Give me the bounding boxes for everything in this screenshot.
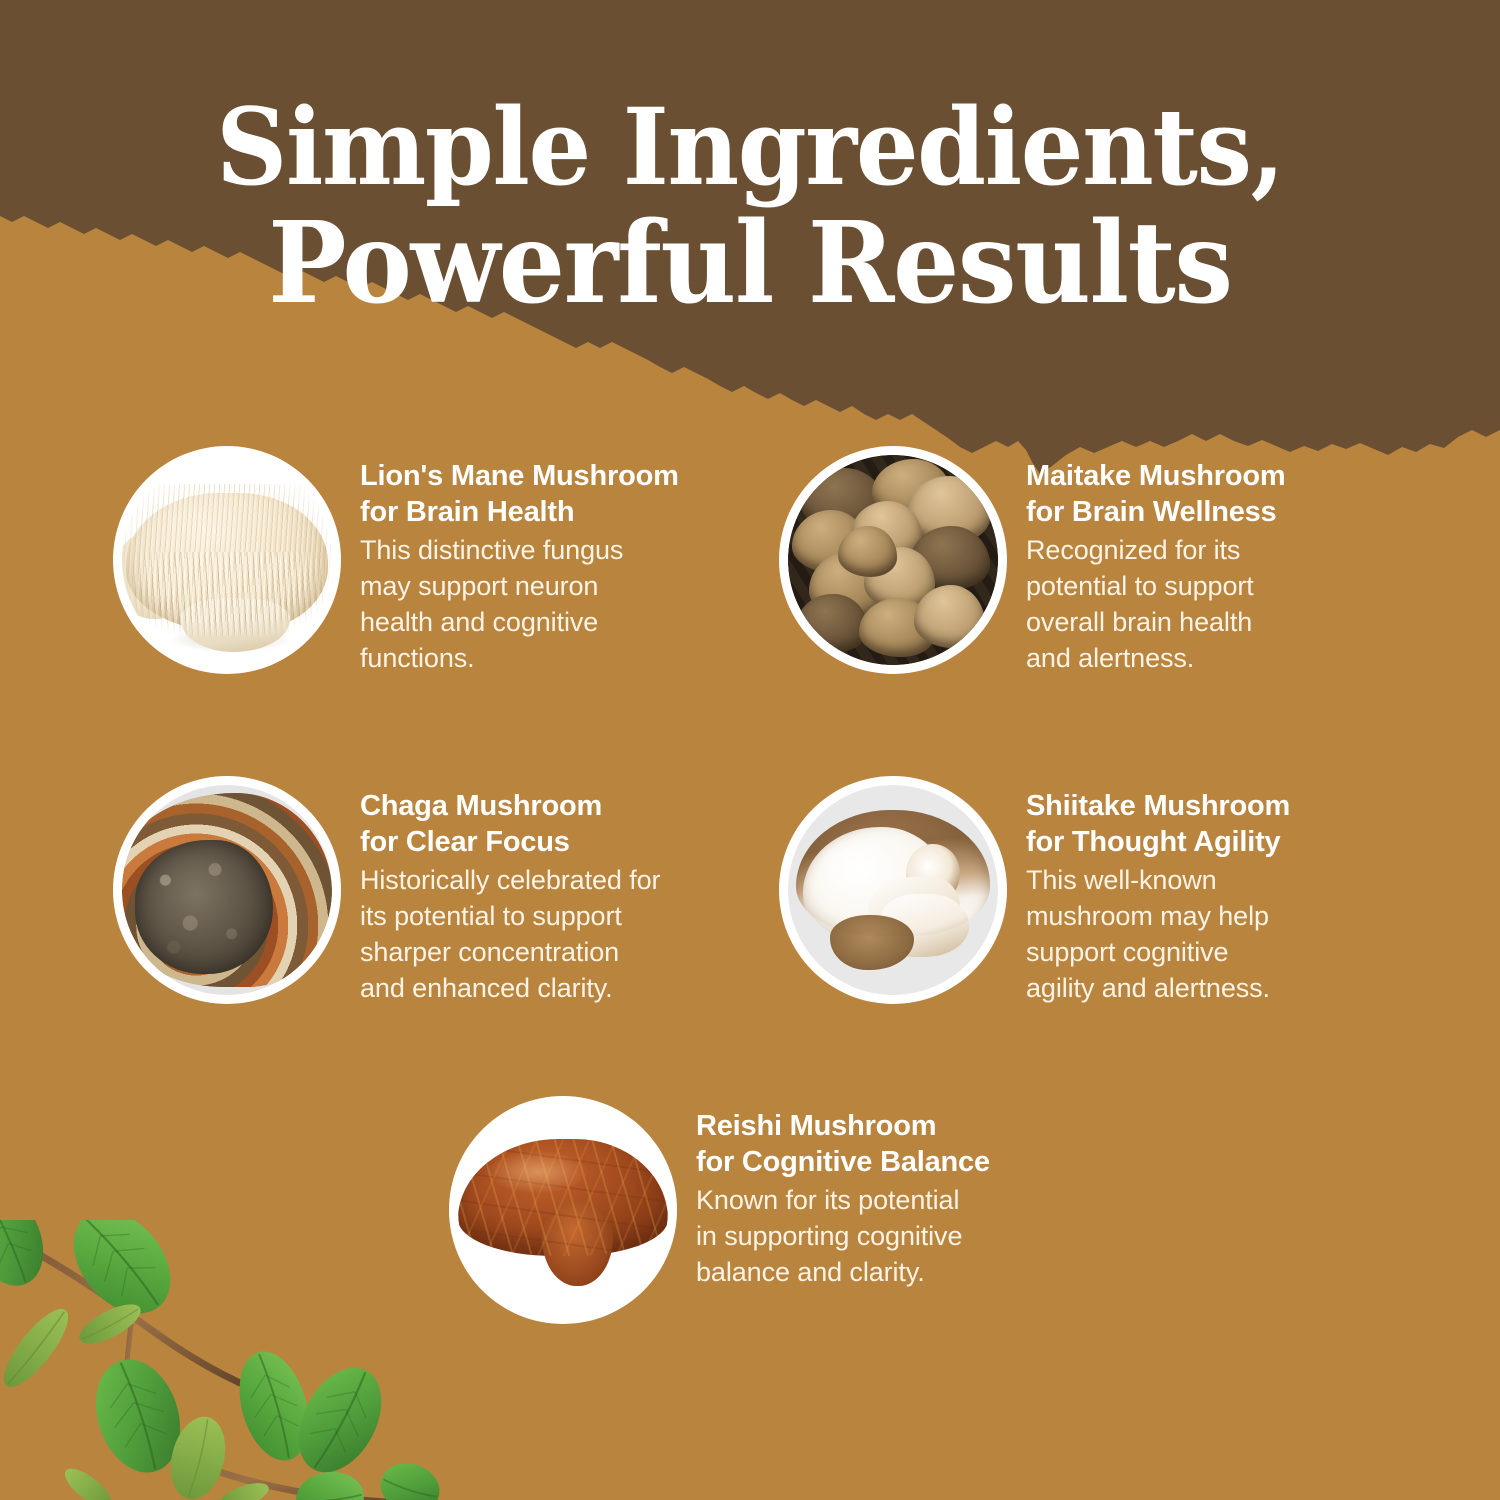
ingredient-card-maitake: Maitake Mushroom for Brain Wellness Reco… xyxy=(788,455,1388,677)
lions-mane-mushroom-photo xyxy=(122,455,332,665)
card-title: Reishi Mushroom for Cognitive Balance xyxy=(696,1109,1098,1181)
chaga-mushroom-photo xyxy=(122,785,332,995)
card-title: Maitake Mushroom for Brain Wellness xyxy=(1026,459,1388,531)
reishi-mushroom-photo xyxy=(458,1105,668,1315)
card-description: Known for its potential in supporting co… xyxy=(696,1183,1098,1291)
card-description: This well-known mushroom may help suppor… xyxy=(1026,863,1388,1007)
card-title: Chaga Mushroom for Clear Focus xyxy=(360,789,762,861)
maitake-mushroom-photo xyxy=(788,455,998,665)
card-title: Lion's Mane Mushroom for Brain Health xyxy=(360,459,762,531)
card-description: This distinctive fungus may support neur… xyxy=(360,533,762,677)
ingredient-card-chaga: Chaga Mushroom for Clear Focus Historica… xyxy=(122,785,762,1007)
card-description: Recognized for its potential to support … xyxy=(1026,533,1388,677)
ingredient-card-reishi: Reishi Mushroom for Cognitive Balance Kn… xyxy=(458,1105,1098,1315)
shiitake-mushroom-photo xyxy=(788,785,998,995)
ingredient-card-shiitake: Shiitake Mushroom for Thought Agility Th… xyxy=(788,785,1388,1007)
ingredient-card-grid: Lion's Mane Mushroom for Brain Health Th… xyxy=(0,0,1500,1500)
ingredient-card-lions-mane: Lion's Mane Mushroom for Brain Health Th… xyxy=(122,455,762,677)
card-title: Shiitake Mushroom for Thought Agility xyxy=(1026,789,1388,861)
card-description: Historically celebrated for its potentia… xyxy=(360,863,762,1007)
infographic-poster: Simple Ingredients, Powerful Results Lio… xyxy=(0,0,1500,1500)
